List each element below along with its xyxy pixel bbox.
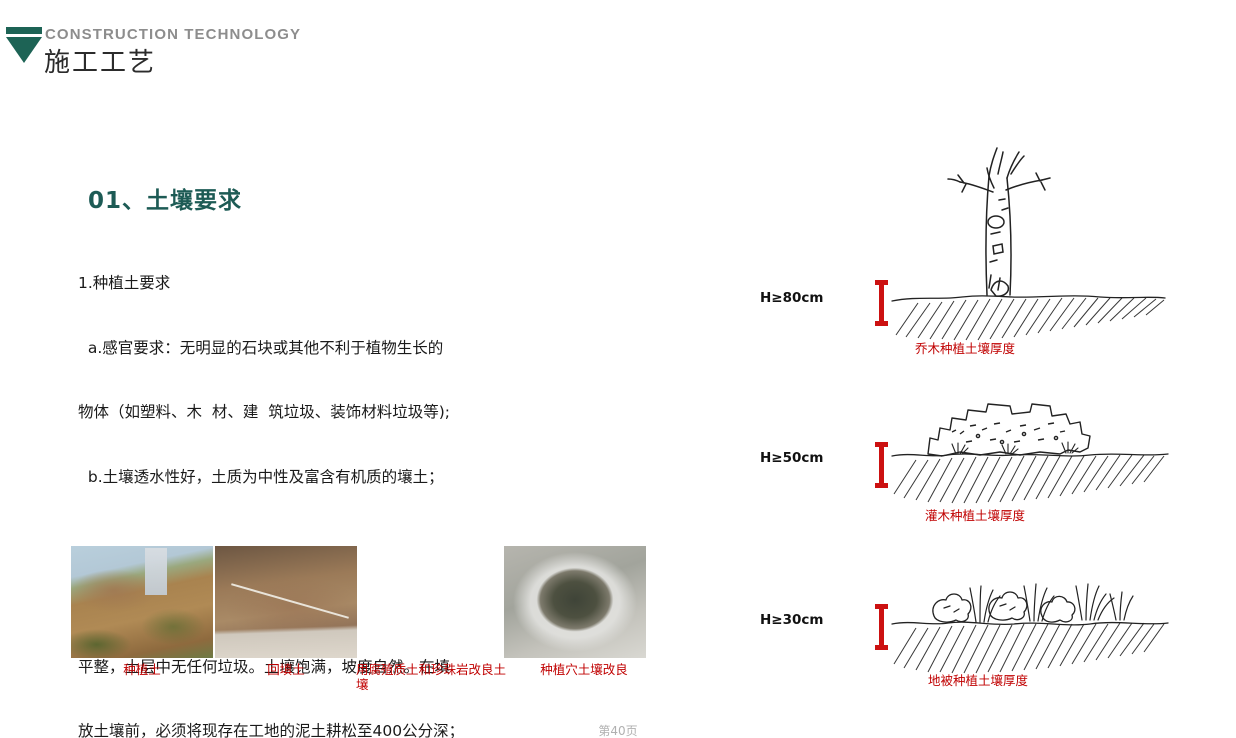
backfill-soil-photo xyxy=(215,546,357,658)
tree-soil-depth-diagram: H≥80cm xyxy=(760,130,1180,360)
photo-strip: 种植土 回填土 用腐殖质土和珍珠岩改良土壤 种植穴土壤改良 xyxy=(71,546,687,658)
header-title-chinese: 施工工艺 xyxy=(44,42,156,79)
humus-perlite-soil-photo xyxy=(360,546,502,658)
groundcover-height-label: H≥30cm xyxy=(760,612,823,628)
logo-bar-shape xyxy=(6,27,42,34)
page-number: 第40页 xyxy=(0,722,1236,738)
soil-slope-photo xyxy=(71,546,213,658)
tree-dimension-marker-icon xyxy=(875,280,888,326)
tree-diagram-caption: 乔木种植土壤厚度 xyxy=(915,338,1015,357)
shrub-soil-depth-diagram: H≥50cm xyxy=(760,390,1180,520)
photo-caption-1: 种植土 xyxy=(71,662,213,677)
photo-caption-3: 用腐殖质土和珍珠岩改良土壤 xyxy=(356,662,508,692)
planting-pit-photo xyxy=(504,546,646,658)
photo-caption-2: 回填土 xyxy=(215,662,357,677)
groundcover-diagram-caption: 地被种植土壤厚度 xyxy=(928,670,1028,689)
groundcover-dimension-marker-icon xyxy=(875,604,888,650)
groundcover-soil-depth-diagram: H≥30cm xyxy=(760,570,1180,700)
para1-line-2: a.感官要求：无明显的石块或其他不利于植物生长的 xyxy=(78,338,548,360)
slide-header: CONSTRUCTION TECHNOLOGY 施工工艺 xyxy=(0,0,1236,80)
para1-line-3: 物体（如塑料、木 材、建 筑垃圾、装饰材料垃圾等); xyxy=(78,402,548,424)
shrub-sketch-icon xyxy=(890,390,1190,510)
tree-sketch-icon xyxy=(890,130,1190,345)
photo-caption-4: 种植穴土壤改良 xyxy=(504,662,664,677)
paragraph-1: 1.种植土要求 a.感官要求：无明显的石块或其他不利于植物生长的 物体（如塑料、… xyxy=(78,230,548,531)
tree-height-label: H≥80cm xyxy=(760,290,823,306)
shrub-height-label: H≥50cm xyxy=(760,450,823,466)
para1-line-1: 1.种植土要求 xyxy=(78,273,548,295)
triangle-down-logo-icon xyxy=(6,27,42,63)
para1-line-4: b.土壤透水性好，土质为中性及富含有机质的壤土； xyxy=(78,467,548,489)
header-title-english: CONSTRUCTION TECHNOLOGY xyxy=(45,26,301,43)
section-title: 01、土壤要求 xyxy=(88,181,242,215)
shrub-dimension-marker-icon xyxy=(875,442,888,488)
logo-triangle-shape xyxy=(6,37,42,63)
slide-canvas: CONSTRUCTION TECHNOLOGY 施工工艺 01、土壤要求 1.种… xyxy=(0,0,1236,738)
shrub-diagram-caption: 灌木种植土壤厚度 xyxy=(925,505,1025,524)
